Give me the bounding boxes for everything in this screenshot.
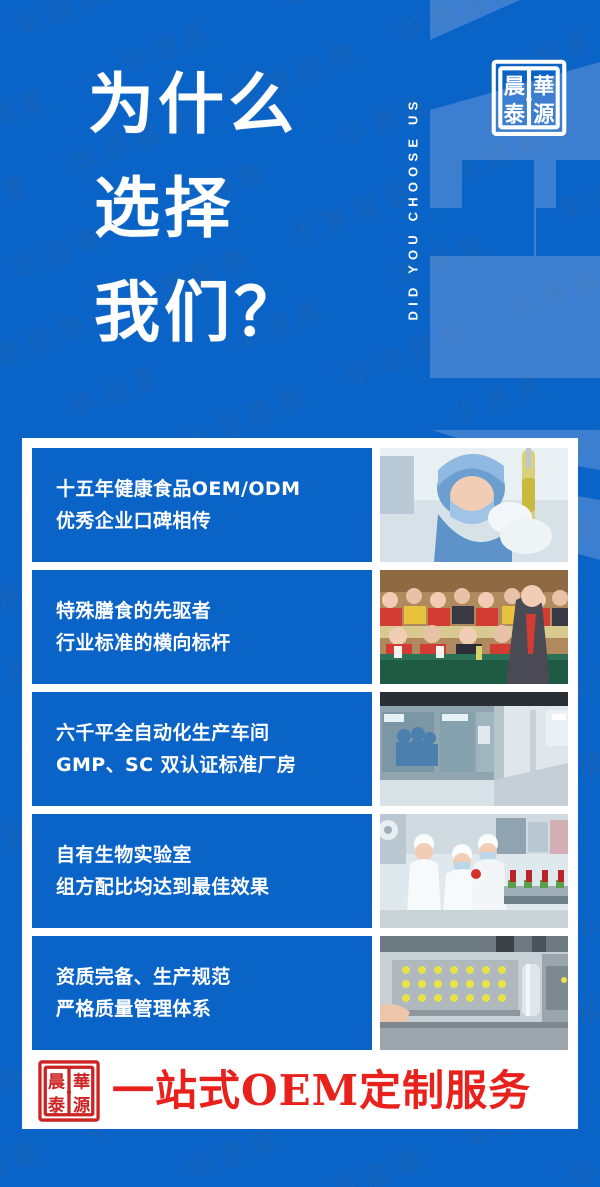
svg-text:華: 華: [73, 1072, 90, 1092]
brand-seal-logo-icon: 晨 華 泰 源: [488, 54, 570, 140]
hero-line-3: 我们？: [94, 260, 304, 364]
feature-card[interactable]: 十五年健康食品OEM/ODM 优秀企业口碑相传: [32, 448, 568, 562]
features-panel: 十五年健康食品OEM/ODM 优秀企业口碑相传: [22, 438, 578, 1129]
feature-line: 组方配比均达到最佳效果: [56, 873, 372, 901]
feature-card[interactable]: 六千平全自动化生产车间 GMP、SC 双认证标准厂房: [32, 692, 568, 806]
svg-text:源: 源: [73, 1094, 91, 1115]
feature-card[interactable]: 自有生物实验室 组方配比均达到最佳效果: [32, 814, 568, 928]
feature-line: 严格质量管理体系: [56, 995, 372, 1023]
feature-card-text: 十五年健康食品OEM/ODM 优秀企业口碑相传: [32, 448, 372, 562]
hero-title: 为什么 选择 我们？: [88, 52, 304, 364]
svg-text:華: 華: [533, 75, 554, 100]
feature-line: GMP、SC 双认证标准厂房: [56, 751, 372, 779]
photo-lab-technician-testing: [380, 448, 568, 562]
brand-seal-red-icon: 晨 華 泰 源: [36, 1058, 102, 1124]
svg-text:泰: 泰: [47, 1094, 66, 1115]
feature-line: 六千平全自动化生产车间: [56, 719, 372, 747]
feature-card[interactable]: 资质完备、生产规范 严格质量管理体系: [32, 936, 568, 1050]
vertical-strapline-text: DID YOU CHOOSE US: [406, 96, 421, 320]
hero-line-1: 为什么: [88, 52, 304, 156]
svg-text:泰: 泰: [504, 103, 526, 128]
photo-cleanroom-workshop: [380, 692, 568, 806]
feature-card[interactable]: 特殊膳食的先驱者 行业标准的横向标杆: [32, 570, 568, 684]
vertical-strapline: DID YOU CHOOSE US: [400, 14, 426, 402]
feature-line: 特殊膳食的先驱者: [56, 597, 372, 625]
feature-card-list: 十五年健康食品OEM/ODM 优秀企业口碑相传: [32, 448, 568, 1050]
svg-text:晨: 晨: [504, 75, 526, 100]
feature-card-text: 特殊膳食的先驱者 行业标准的横向标杆: [32, 570, 372, 684]
photo-conference-audience: [380, 570, 568, 684]
feature-card-text: 六千平全自动化生产车间 GMP、SC 双认证标准厂房: [32, 692, 372, 806]
feature-card-text: 资质完备、生产规范 严格质量管理体系: [32, 936, 372, 1050]
bottom-cta-text: 一站式OEM定制服务: [112, 1068, 531, 1114]
photo-production-line-staff: [380, 814, 568, 928]
bottom-cta-banner: 晨 華 泰 源 一站式OEM定制服务: [22, 1052, 578, 1129]
photo-tablet-packaging-machine: [380, 936, 568, 1050]
feature-line: 十五年健康食品OEM/ODM: [56, 475, 372, 503]
hero-line-2: 选择: [94, 156, 304, 260]
feature-line: 资质完备、生产规范: [56, 963, 372, 991]
svg-text:源: 源: [533, 103, 555, 128]
feature-line: 优秀企业口碑相传: [56, 507, 372, 535]
feature-card-text: 自有生物实验室 组方配比均达到最佳效果: [32, 814, 372, 928]
poster-root: 华源晨泰 华源晨泰 为什么 选择 我们？ DID YOU CHOOSE US 晨…: [0, 0, 600, 1187]
feature-line: 行业标准的横向标杆: [56, 629, 372, 657]
feature-line: 自有生物实验室: [56, 841, 372, 869]
svg-text:晨: 晨: [48, 1072, 66, 1092]
